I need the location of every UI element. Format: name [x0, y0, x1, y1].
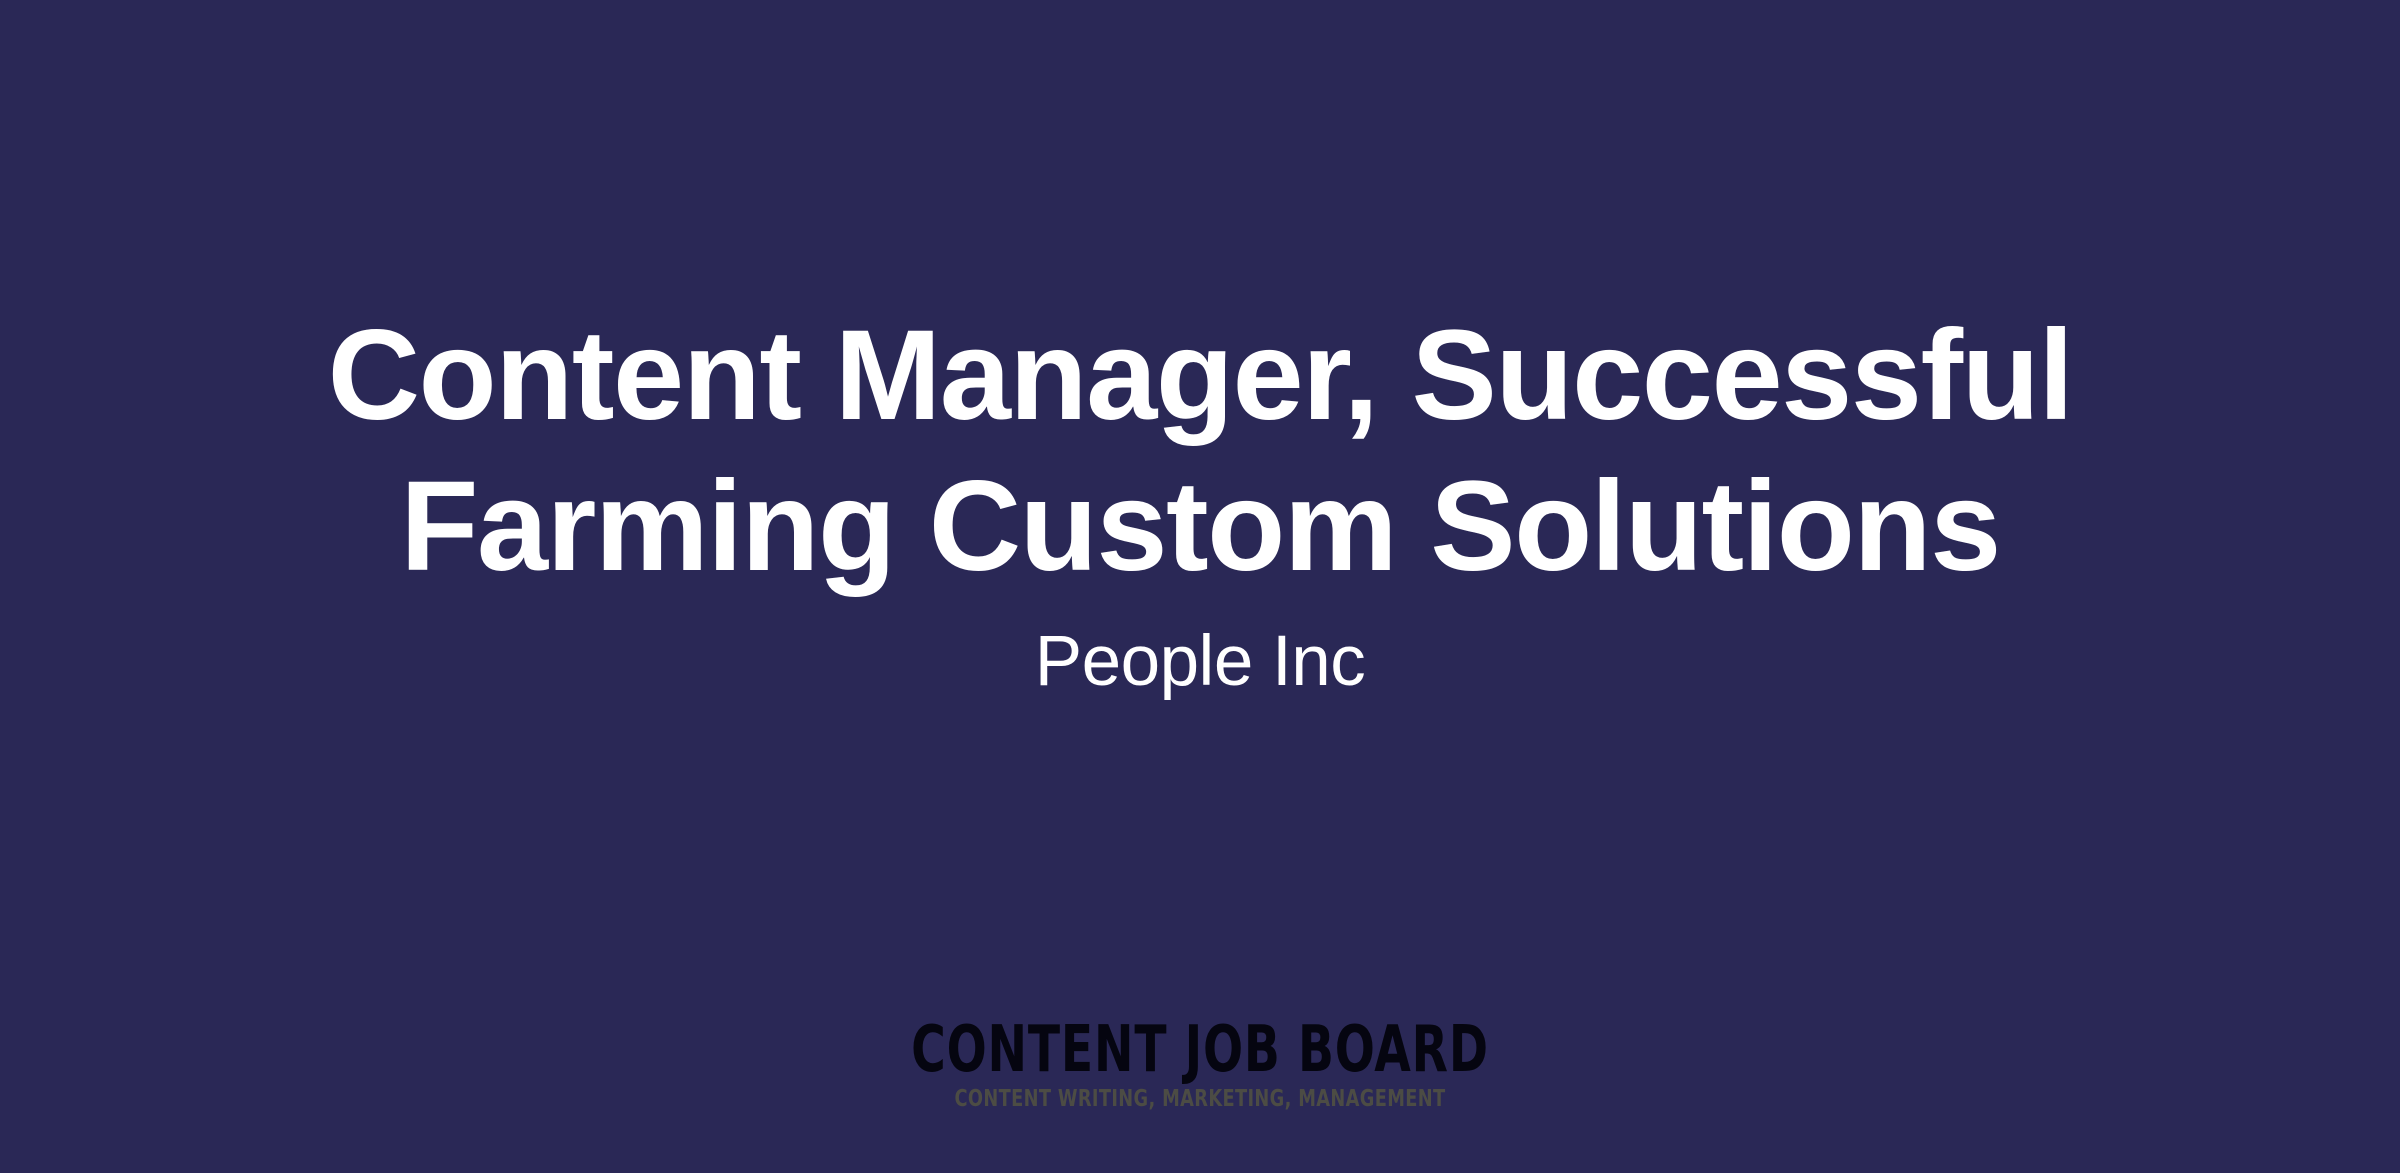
company-name: People Inc — [120, 602, 2280, 704]
headline-block: Content Manager, Successful Farming Cust… — [0, 300, 2400, 704]
page-title: Content Manager, Successful Farming Cust… — [120, 300, 2280, 602]
brand-wordmark: CONTENT JOB BOARD — [216, 1018, 2184, 1082]
job-posting-card: Content Manager, Successful Farming Cust… — [0, 0, 2400, 1173]
brand-tagline: CONTENT WRITING, MARKETING, MANAGEMENT — [168, 1082, 2232, 1111]
brand-logo: CONTENT JOB BOARD CONTENT WRITING, MARKE… — [0, 1018, 2400, 1111]
